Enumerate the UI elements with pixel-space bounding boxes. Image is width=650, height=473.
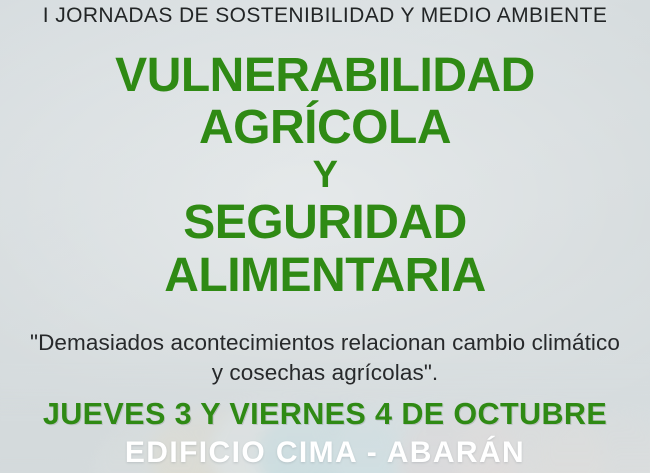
poster-quote: "Demasiados acontecimientos relacionan c… — [24, 328, 626, 388]
poster-title: VULNERABILIDAD AGRÍCOLA Y SEGURIDAD ALIM… — [0, 52, 650, 300]
poster-content: I JORNADAS DE SOSTENIBILIDAD Y MEDIO AMB… — [0, 0, 650, 473]
title-line-1: VULNERABILIDAD — [0, 52, 650, 100]
poster-canvas: I JORNADAS DE SOSTENIBILIDAD Y MEDIO AMB… — [0, 0, 650, 473]
title-line-4: SEGURIDAD — [0, 199, 650, 247]
event-date: JUEVES 3 Y VIERNES 4 DE OCTUBRE — [5, 396, 645, 432]
title-line-2: AGRÍCOLA — [0, 104, 650, 152]
title-line-3: Y — [0, 157, 650, 195]
title-line-5: ALIMENTARIA — [0, 252, 650, 300]
event-venue: EDIFICIO CIMA - ABARÁN — [0, 436, 650, 470]
event-series-kicker: I JORNADAS DE SOSTENIBILIDAD Y MEDIO AMB… — [0, 4, 650, 28]
